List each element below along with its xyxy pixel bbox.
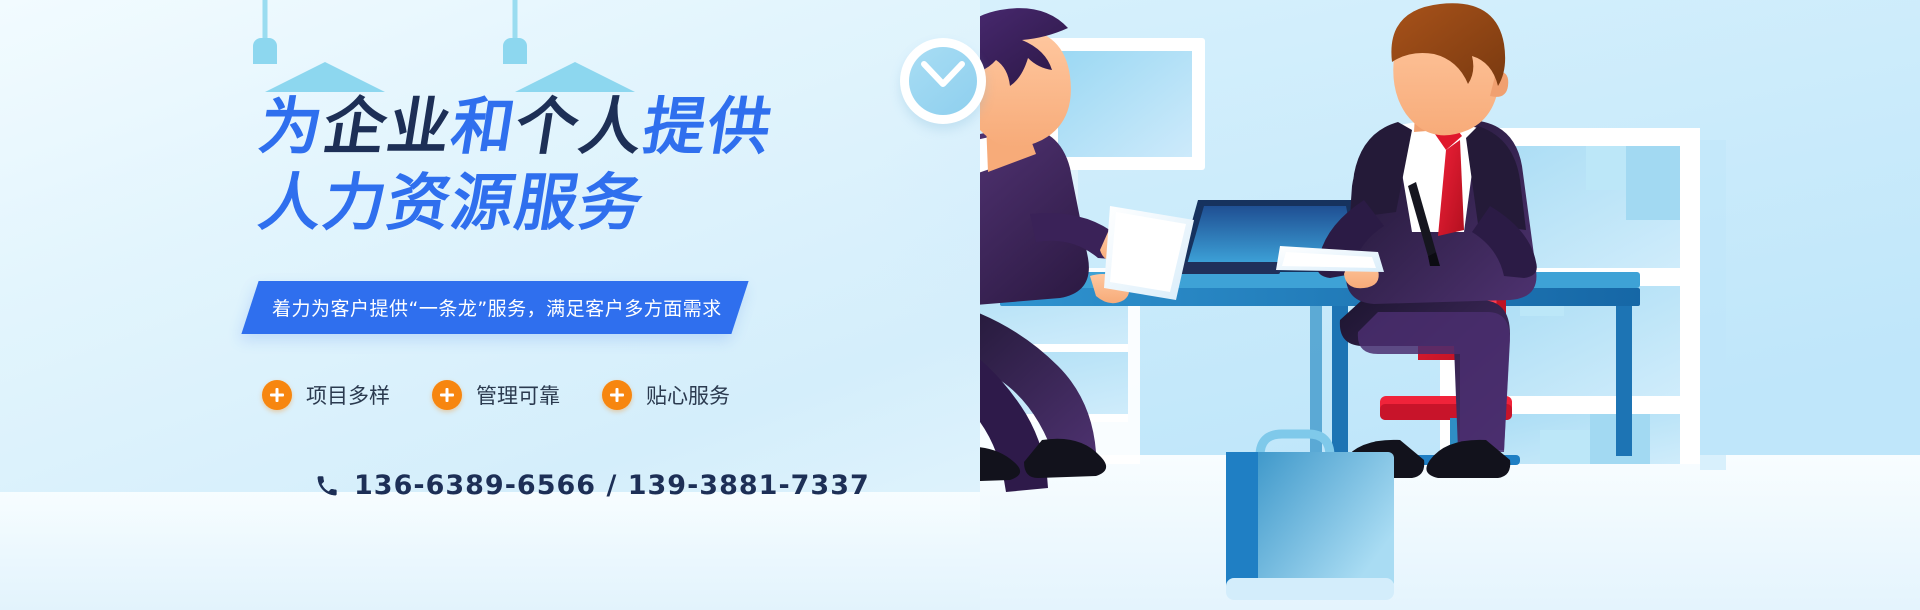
feature-item[interactable]: 贴心服务 xyxy=(602,380,730,410)
feature-item[interactable]: 项目多样 xyxy=(262,380,390,410)
feature-label: 贴心服务 xyxy=(646,380,730,410)
feature-label: 项目多样 xyxy=(306,380,390,410)
page-title: 为企业和个人提供 人力资源服务 xyxy=(260,96,772,234)
plus-icon xyxy=(602,380,632,410)
hero-banner: 为企业和个人提供 人力资源服务 着力为客户提供“一条龙”服务，满足客户多方面需求… xyxy=(0,0,1920,610)
headline-segment: 人力资源服务 xyxy=(255,172,649,234)
floor xyxy=(980,455,1920,610)
illustration-svg xyxy=(980,0,1920,610)
headline-line-2: 人力资源服务 xyxy=(255,172,777,234)
briefcase xyxy=(1226,434,1394,600)
headline-segment: 提供 xyxy=(639,96,777,158)
headline-segment: 企业 xyxy=(319,96,457,158)
plus-icon xyxy=(262,380,292,410)
headline-segment: 个人 xyxy=(511,96,649,158)
text-column: 为企业和个人提供 人力资源服务 着力为客户提供“一条龙”服务，满足客户多方面需求… xyxy=(0,0,880,610)
wall-clock xyxy=(900,38,986,124)
phone-number: 136-6389-6566 / 139-3881-7337 xyxy=(354,470,870,501)
subtitle-text: 着力为客户提供“一条龙”服务，满足客户多方面需求 xyxy=(272,281,742,334)
headline-segment: 为 xyxy=(255,96,329,158)
clock-hands-icon xyxy=(920,60,966,96)
headline-line-1: 为企业和个人提供 xyxy=(255,96,777,158)
office-interview-illustration xyxy=(980,0,1920,610)
feature-label: 管理可靠 xyxy=(476,380,560,410)
phone-icon xyxy=(316,475,338,497)
feature-list: 项目多样 管理可靠 贴心服务 xyxy=(262,380,730,410)
contact-phone[interactable]: 136-6389-6566 / 139-3881-7337 xyxy=(316,470,870,501)
headline-segment: 和 xyxy=(447,96,521,158)
plus-icon xyxy=(432,380,462,410)
feature-item[interactable]: 管理可靠 xyxy=(432,380,560,410)
